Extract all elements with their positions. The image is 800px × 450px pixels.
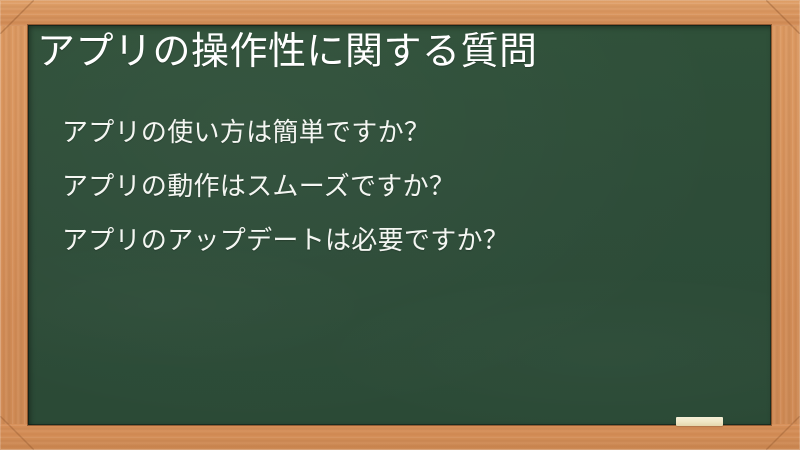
frame-rail-bottom	[0, 424, 800, 450]
chalkboard-surface: アプリの操作性に関する質問 アプリの使い方は簡単ですか？ アプリの動作はスムーズ…	[28, 25, 771, 425]
question-list: アプリの使い方は簡単ですか？ アプリの動作はスムーズですか？ アプリのアップデー…	[62, 105, 509, 267]
question-item: アプリのアップデートは必要ですか？	[62, 213, 509, 267]
blackboard-scene: アプリの操作性に関する質問 アプリの使い方は簡単ですか？ アプリの動作はスムーズ…	[0, 0, 800, 450]
board-title: アプリの操作性に関する質問	[37, 31, 538, 74]
frame-rail-top	[0, 0, 800, 26]
frame-corner-bottom-right	[766, 416, 800, 450]
chalk-stick	[676, 417, 723, 426]
question-item: アプリの動作はスムーズですか？	[62, 159, 509, 213]
question-item: アプリの使い方は簡単ですか？	[62, 105, 509, 159]
frame-corner-top-right	[766, 0, 800, 34]
